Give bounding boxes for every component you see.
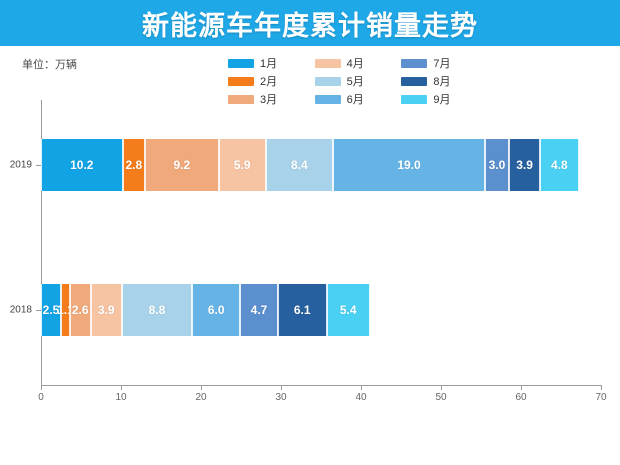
legend-item-7月[interactable]: 7月	[401, 54, 478, 72]
legend-item-1月[interactable]: 1月	[228, 54, 305, 72]
bar-segment-value: 6.0	[208, 303, 225, 317]
x-axis-tick-label: 0	[38, 392, 44, 403]
legend-swatch-icon	[315, 59, 341, 68]
x-axis-tick	[601, 385, 602, 390]
bar-segment-value: 3.9	[516, 158, 533, 172]
legend-label: 1月	[260, 55, 277, 71]
bar-segment-value: 9.2	[173, 158, 190, 172]
unit-label: 单位：万辆	[22, 56, 77, 72]
bar-segment-2019-2月[interactable]: 2.8	[123, 139, 145, 191]
bar-segment-2018-3月[interactable]: 2.6	[70, 284, 91, 336]
bar-segment-value: 3.0	[489, 158, 506, 172]
bar-segment-2018-6月[interactable]: 6.0	[192, 284, 240, 336]
x-axis-tick	[201, 385, 202, 390]
legend-swatch-icon	[228, 77, 254, 86]
legend-item-5月[interactable]: 5月	[315, 72, 392, 90]
bar-segment-value: 8.8	[149, 303, 166, 317]
x-axis-tick-label: 50	[435, 392, 446, 403]
bar-segment-value: 6.1	[294, 303, 311, 317]
bar-segment-value: 3.9	[98, 303, 115, 317]
bar-segment-2018-5月[interactable]: 8.8	[122, 284, 192, 336]
legend-swatch-icon	[228, 59, 254, 68]
bar-segment-2019-5月[interactable]: 8.4	[266, 139, 333, 191]
page-title: 新能源车年度累计销量走势	[142, 4, 478, 43]
bar-segment-2018-2月[interactable]: 1.1	[61, 284, 70, 336]
legend-label: 2月	[260, 73, 277, 89]
legend-swatch-icon	[401, 77, 427, 86]
x-axis-tick	[361, 385, 362, 390]
bar-segment-2019-4月[interactable]: 5.9	[219, 139, 266, 191]
bar-segment-2019-3月[interactable]: 9.2	[145, 139, 219, 191]
legend-item-2月[interactable]: 2月	[228, 72, 305, 90]
x-axis-tick-label: 10	[115, 392, 126, 403]
bar-segment-value: 2.6	[72, 303, 89, 317]
bar-segment-2019-7月[interactable]: 3.0	[485, 139, 509, 191]
bar-segment-value: 4.8	[551, 158, 568, 172]
bar-segment-2019-1月[interactable]: 10.2	[41, 139, 123, 191]
bar-segment-2018-8月[interactable]: 6.1	[278, 284, 327, 336]
bar-segment-2018-1月[interactable]: 2.5	[41, 284, 61, 336]
bar-segment-value: 5.9	[234, 158, 251, 172]
bar-segment-value: 4.7	[251, 303, 268, 317]
title-banner: 新能源车年度累计销量走势	[0, 0, 620, 46]
x-axis-tick	[521, 385, 522, 390]
legend-item-8月[interactable]: 8月	[401, 72, 478, 90]
legend-swatch-icon	[401, 59, 427, 68]
x-axis-tick	[121, 385, 122, 390]
bar-segment-value: 10.2	[70, 158, 93, 172]
bar-segment-value: 8.4	[291, 158, 308, 172]
x-axis-line	[41, 385, 601, 386]
x-axis-tick	[41, 385, 42, 390]
legend-label: 4月	[347, 55, 364, 71]
x-axis-tick-label: 60	[515, 392, 526, 403]
bar-segment-value: 2.5	[43, 303, 60, 317]
legend-label: 7月	[433, 55, 450, 71]
legend-swatch-icon	[315, 77, 341, 86]
x-axis-tick-label: 70	[595, 392, 606, 403]
x-axis-tick-label: 20	[195, 392, 206, 403]
bar-segment-value: 19.0	[397, 158, 420, 172]
legend-label: 5月	[347, 73, 364, 89]
x-axis-tick	[441, 385, 442, 390]
x-axis-tick-label: 30	[275, 392, 286, 403]
bar-segment-2019-6月[interactable]: 19.0	[333, 139, 485, 191]
bar-segment-2018-7月[interactable]: 4.7	[240, 284, 278, 336]
bar-segment-value: 5.4	[340, 303, 357, 317]
x-axis-tick	[281, 385, 282, 390]
bar-segment-value: 2.8	[125, 158, 142, 172]
bar-segment-2019-8月[interactable]: 3.9	[509, 139, 540, 191]
bar-segment-2018-9月[interactable]: 5.4	[327, 284, 370, 336]
x-axis-tick-label: 40	[355, 392, 366, 403]
bar-segment-2019-9月[interactable]: 4.8	[540, 139, 578, 191]
legend-label: 8月	[433, 73, 450, 89]
bar-segment-2018-4月[interactable]: 3.9	[91, 284, 122, 336]
legend-item-4月[interactable]: 4月	[315, 54, 392, 72]
